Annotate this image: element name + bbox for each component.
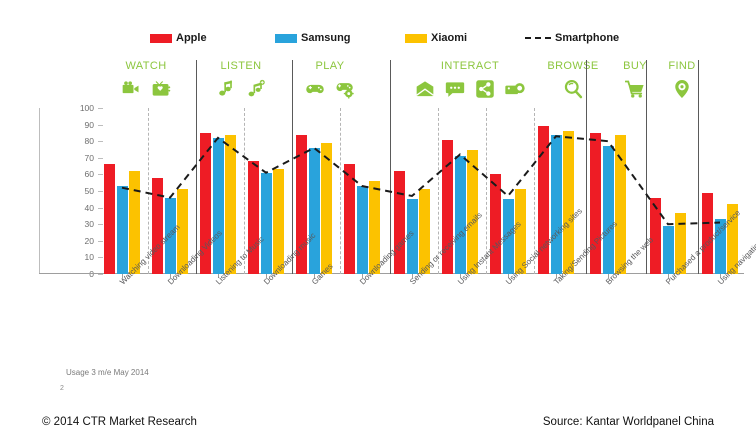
page-number: 2 bbox=[60, 385, 64, 392]
source-text: Source: Kantar Worldpanel China bbox=[543, 416, 714, 428]
legend-item-smartphone: Smartphone bbox=[525, 32, 619, 44]
magnifier-icon bbox=[563, 79, 583, 99]
location-pin-icon bbox=[672, 79, 692, 99]
legend-item-label: Apple bbox=[176, 32, 207, 44]
slide-footer: © 2014 CTR Market Research Source: Kanta… bbox=[0, 408, 756, 441]
category-title-watch: WATCH bbox=[96, 60, 196, 72]
legend-color-swatch bbox=[150, 34, 172, 43]
category-icons-watch bbox=[104, 76, 188, 102]
share-icon bbox=[475, 79, 495, 99]
legend-item-apple: Apple bbox=[150, 32, 207, 44]
legend-color-swatch bbox=[405, 34, 427, 43]
category-title-find: FIND bbox=[632, 60, 732, 72]
legend-dash-marker bbox=[525, 37, 551, 39]
category-icons-interact bbox=[386, 76, 554, 102]
television-icon bbox=[151, 79, 171, 99]
copyright-text: © 2014 CTR Market Research bbox=[42, 416, 197, 428]
legend-item-xiaomi: Xiaomi bbox=[405, 32, 467, 44]
chart-legend: AppleSamsungXiaomiSmartphone bbox=[150, 32, 620, 50]
category-title-play: PLAY bbox=[280, 60, 380, 72]
category-icons-play bbox=[288, 76, 372, 102]
chat-bubble-icon bbox=[445, 79, 465, 99]
video-camera-icon bbox=[121, 79, 141, 99]
envelope-icon bbox=[415, 79, 435, 99]
legend-color-swatch bbox=[275, 34, 297, 43]
category-icons-listen bbox=[199, 76, 283, 102]
music-note-icon bbox=[216, 79, 236, 99]
x-axis-labels: Watching video streamDownloading VideosL… bbox=[0, 274, 756, 364]
category-icons-find bbox=[652, 76, 712, 102]
legend-item-label: Smartphone bbox=[555, 32, 619, 44]
category-icons-browse bbox=[543, 76, 603, 102]
legend-item-label: Xiaomi bbox=[431, 32, 467, 44]
gamepad-icon bbox=[305, 79, 325, 99]
category-title-interact: INTERACT bbox=[420, 60, 520, 72]
music-notes-icon bbox=[246, 79, 266, 99]
slide-canvas: AppleSamsungXiaomiSmartphone WATCHLISTEN… bbox=[0, 0, 756, 441]
category-title-listen: LISTEN bbox=[191, 60, 291, 72]
y-axis-line bbox=[39, 108, 40, 274]
camera-icon bbox=[505, 79, 525, 99]
shopping-cart-icon bbox=[625, 79, 645, 99]
legend-item-label: Samsung bbox=[301, 32, 351, 44]
gamepad-settings-icon bbox=[335, 79, 355, 99]
legend-item-samsung: Samsung bbox=[275, 32, 351, 44]
usage-note: Usage 3 m/e May 2014 bbox=[66, 368, 149, 377]
